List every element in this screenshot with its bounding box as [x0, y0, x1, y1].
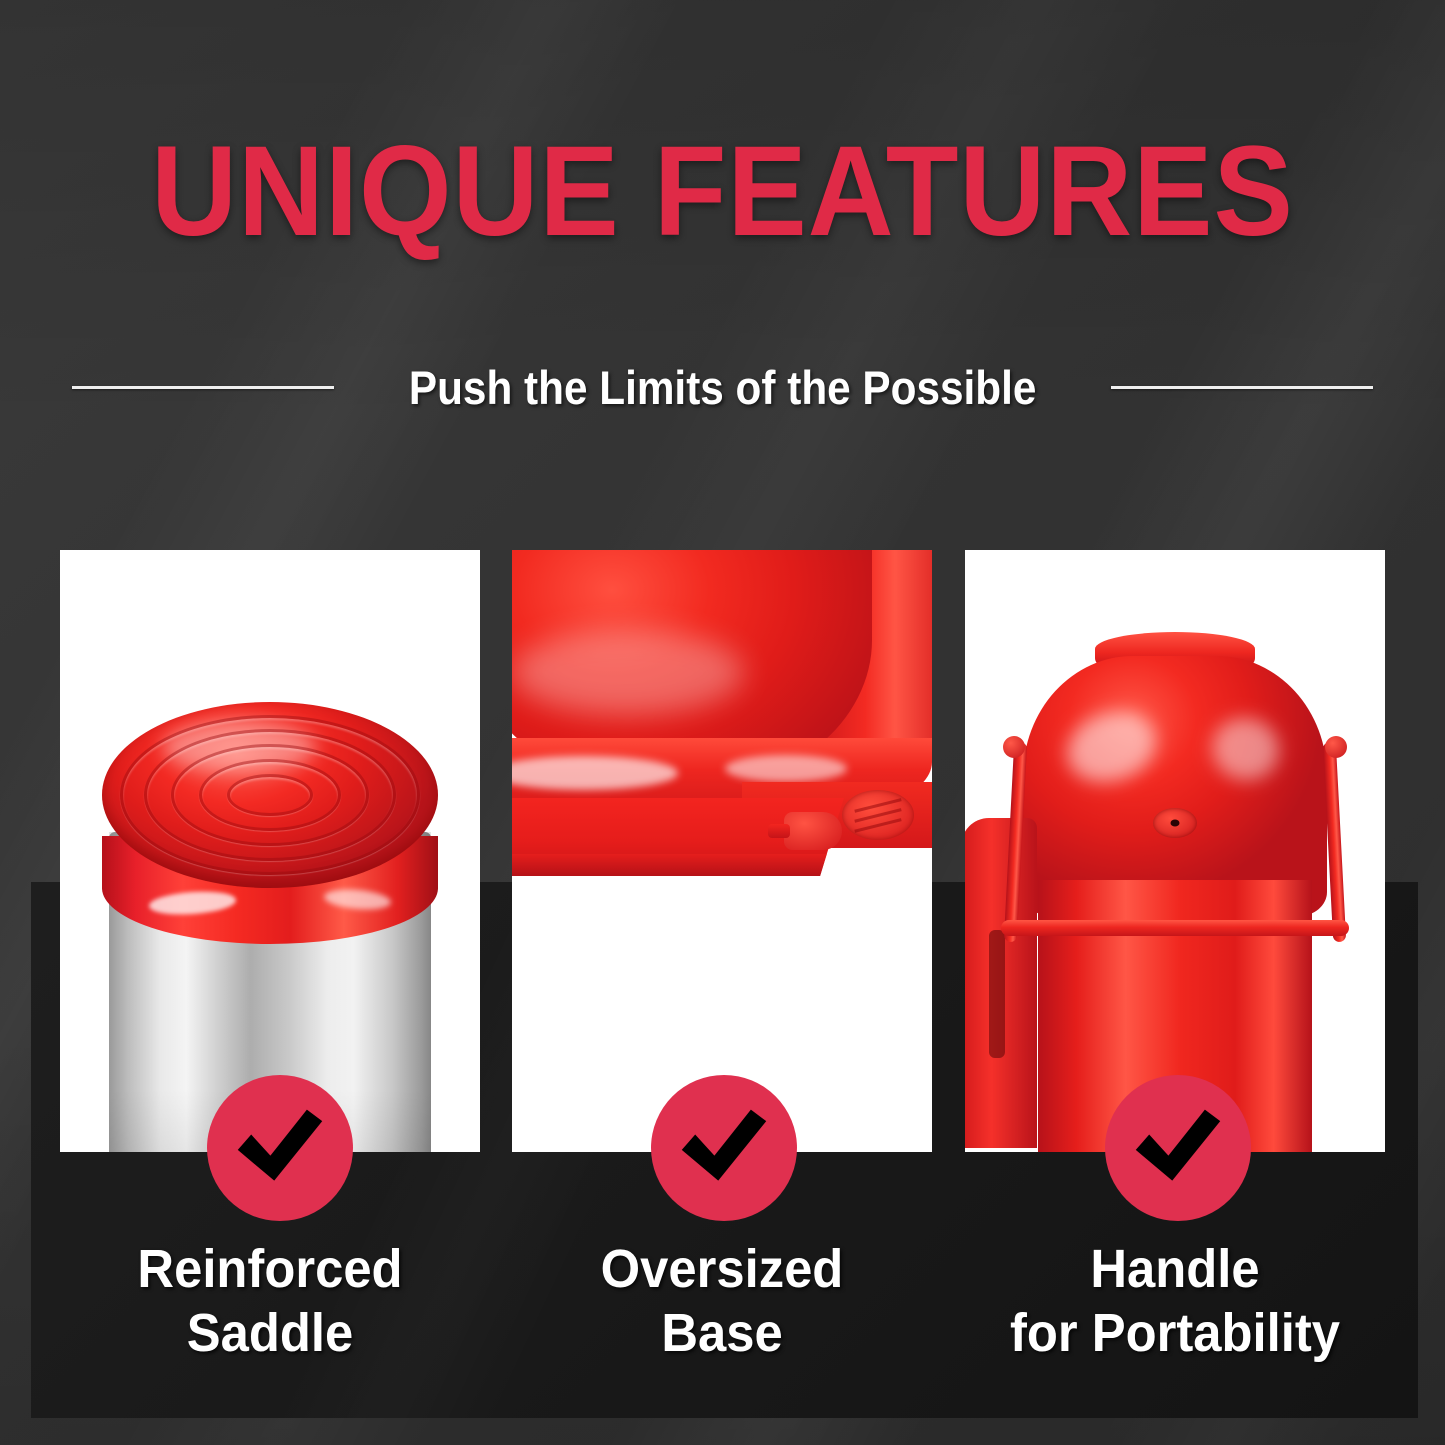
handle-pivot-right — [1325, 736, 1347, 758]
feature-caption-base: Oversized Base — [525, 1238, 920, 1365]
handle-grip-bar — [1001, 920, 1349, 936]
oil-port-graphic — [1153, 808, 1197, 838]
feature-caption-saddle: Reinforced Saddle — [73, 1238, 468, 1365]
feature-photo-base — [512, 550, 932, 1152]
check-icon — [1130, 1100, 1226, 1196]
subtitle: Push the Limits of the Possible — [409, 360, 1037, 415]
feature-caption-handle: Handle for Portability — [978, 1238, 1373, 1365]
divider-line-right — [1111, 386, 1373, 389]
check-badge-handle — [1105, 1075, 1251, 1221]
jack-pump-side-graphic — [965, 818, 1037, 1148]
check-icon — [676, 1100, 772, 1196]
release-valve-graphic — [784, 812, 842, 850]
feature-card-oversized-base — [512, 550, 932, 1152]
subtitle-row: Push the Limits of the Possible — [0, 360, 1445, 415]
feature-card-reinforced-saddle — [60, 550, 480, 1152]
feature-photo-handle — [965, 550, 1385, 1152]
saddle-top-graphic — [102, 702, 438, 888]
header: UNIQUE FEATURES — [0, 128, 1445, 256]
handle-pivot-left — [1003, 736, 1025, 758]
divider-line-left — [72, 386, 334, 389]
feature-photo-saddle — [60, 550, 480, 1152]
check-badge-saddle — [207, 1075, 353, 1221]
check-icon — [232, 1100, 328, 1196]
base-stamp-graphic — [842, 790, 914, 840]
feature-card-handle — [965, 550, 1385, 1152]
jack-shoulder-graphic — [1023, 656, 1327, 916]
page-title: UNIQUE FEATURES — [51, 128, 1395, 256]
check-badge-base — [651, 1075, 797, 1221]
